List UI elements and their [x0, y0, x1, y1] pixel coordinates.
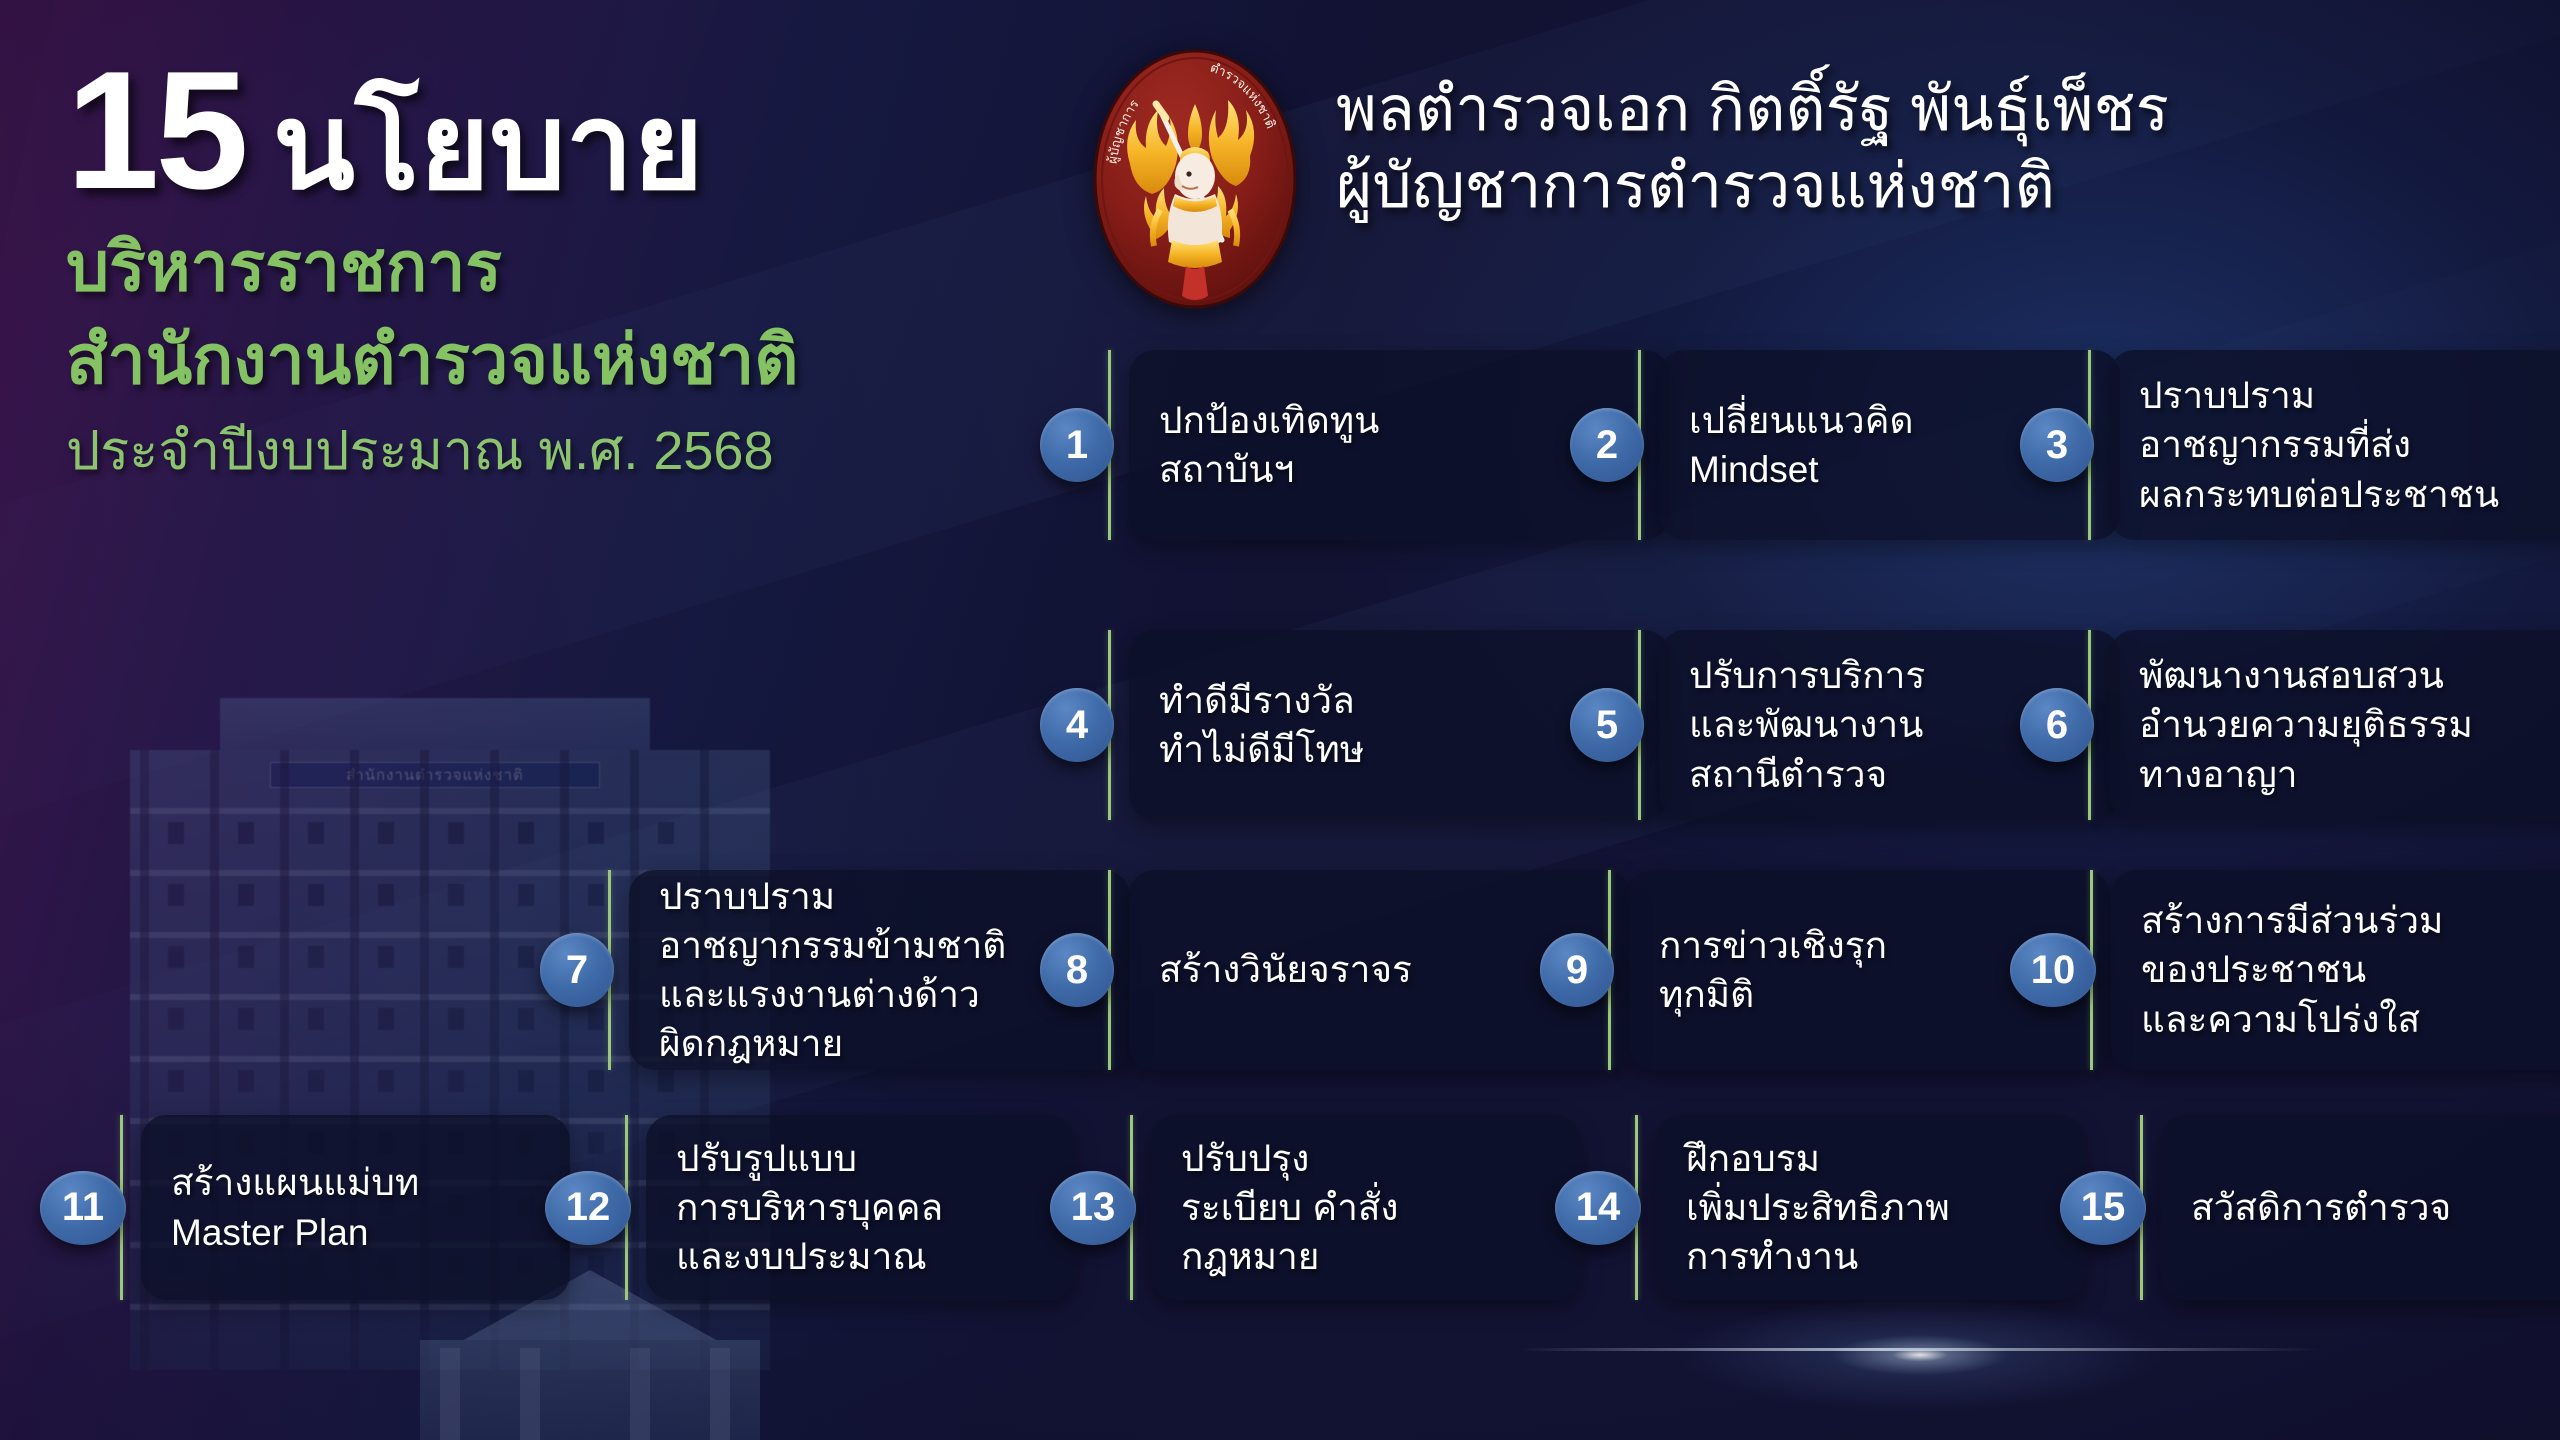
policy-label-line: ฝึกอบรม	[1686, 1134, 1950, 1183]
policy-number-badge[interactable]: 1	[1040, 408, 1114, 482]
policy-label: ปราบปรามอาชญากรรมที่ส่งผลกระทบต่อประชาชน	[2139, 371, 2499, 519]
policy-label: ปรับปรุงระเบียบ คำสั่งกฎหมาย	[1181, 1134, 1399, 1282]
policy-label-line: ปรับการบริการ	[1689, 651, 1925, 700]
policy-card[interactable]: สร้างแผนแม่บทMaster Plan	[141, 1115, 570, 1300]
policy-item[interactable]: 3ปราบปรามอาชญากรรมที่ส่งผลกระทบต่อประชาช…	[2020, 350, 2560, 540]
policy-number-badge[interactable]: 8	[1040, 933, 1114, 1007]
policy-card[interactable]: ฝึกอบรมเพิ่มประสิทธิภาพการทำงาน	[1656, 1115, 2085, 1300]
policy-label: ปรับการบริการและพัฒนางานสถานีตำรวจ	[1689, 651, 1925, 799]
policy-label: ปรับรูปแบบการบริหารบุคคลและงบประมาณ	[676, 1134, 943, 1282]
policy-card[interactable]: ปราบปรามอาชญากรรมที่ส่งผลกระทบต่อประชาชน	[2109, 350, 2560, 540]
policy-label-line: ปราบปราม	[2139, 371, 2499, 420]
policy-number-badge[interactable]: 11	[40, 1171, 126, 1245]
policy-label-line: การข่าวเชิงรุก	[1659, 921, 1887, 970]
policy-label: เปลี่ยนแนวคิดMindset	[1689, 396, 1913, 494]
policy-item[interactable]: 14ฝึกอบรมเพิ่มประสิทธิภาพการทำงาน	[1555, 1115, 2085, 1300]
policy-label-line: สถาบันฯ	[1159, 445, 1379, 494]
policy-number-badge[interactable]: 15	[2060, 1171, 2146, 1245]
policy-number-badge[interactable]: 5	[1570, 688, 1644, 762]
policy-label-line: สวัสดิการตำรวจ	[2191, 1183, 2451, 1232]
policy-label: ทำดีมีรางวัลทำไม่ดีมีโทษ	[1159, 676, 1364, 774]
policy-label-line: พัฒนางานสอบสวน	[2139, 651, 2473, 700]
policy-number-badge[interactable]: 4	[1040, 688, 1114, 762]
policy-label-line: ผลกระทบต่อประชาชน	[2139, 470, 2499, 519]
policy-label: ปราบปรามอาชญากรรมข้ามชาติและแรงงานต่างด้…	[659, 872, 1006, 1069]
policy-number-badge[interactable]: 12	[545, 1171, 631, 1245]
policy-number-badge[interactable]: 2	[1570, 408, 1644, 482]
policy-number-badge[interactable]: 13	[1050, 1171, 1136, 1245]
policy-number-badge[interactable]: 7	[540, 933, 614, 1007]
policy-card[interactable]: ปรับปรุงระเบียบ คำสั่งกฎหมาย	[1151, 1115, 1580, 1300]
policy-label-line: Master Plan	[171, 1208, 419, 1257]
policy-label: สวัสดิการตำรวจ	[2191, 1183, 2451, 1232]
policy-label: สร้างแผนแม่บทMaster Plan	[171, 1158, 419, 1256]
policy-label-line: การทำงาน	[1686, 1232, 1950, 1281]
policy-label: ฝึกอบรมเพิ่มประสิทธิภาพการทำงาน	[1686, 1134, 1950, 1282]
policy-item[interactable]: 11สร้างแผนแม่บทMaster Plan	[40, 1115, 570, 1300]
policy-label-line: ปราบปราม	[659, 872, 1006, 921]
policy-label-line: เพิ่มประสิทธิภาพ	[1686, 1183, 1950, 1232]
policy-label-line: สถานีตำรวจ	[1689, 750, 1925, 799]
policy-label-line: ทำไม่ดีมีโทษ	[1159, 725, 1364, 774]
policy-label-line: Mindset	[1689, 445, 1913, 494]
policy-label: การข่าวเชิงรุกทุกมิติ	[1659, 921, 1887, 1019]
policy-label: ปกป้องเทิดทูนสถาบันฯ	[1159, 396, 1379, 494]
policy-label-line: สร้างแผนแม่บท	[171, 1158, 419, 1207]
policy-label: พัฒนางานสอบสวนอำนวยความยุติธรรมทางอาญา	[2139, 651, 2473, 799]
policy-label: สร้างการมีส่วนร่วมของประชาชนและความโปร่ง…	[2141, 896, 2443, 1044]
policy-number-badge[interactable]: 9	[1540, 933, 1614, 1007]
policy-label-line: ปกป้องเทิดทูน	[1159, 396, 1379, 445]
policy-item[interactable]: 15สวัสดิการตำรวจ	[2060, 1115, 2560, 1300]
policy-label-line: ของประชาชน	[2141, 945, 2443, 994]
policy-label-line: ทุกมิติ	[1659, 970, 1887, 1019]
policy-card[interactable]: สร้างการมีส่วนร่วมของประชาชนและความโปร่ง…	[2111, 870, 2560, 1070]
policy-item[interactable]: 12ปรับรูปแบบการบริหารบุคคลและงบประมาณ	[545, 1115, 1075, 1300]
policy-card[interactable]: ปรับรูปแบบการบริหารบุคคลและงบประมาณ	[646, 1115, 1075, 1300]
policy-label-line: ปรับรูปแบบ	[676, 1134, 943, 1183]
policy-number-badge[interactable]: 6	[2020, 688, 2094, 762]
policy-label-line: กฎหมาย	[1181, 1232, 1399, 1281]
policy-label-line: ทางอาญา	[2139, 750, 2473, 799]
policy-label-line: อาชญากรรมที่ส่ง	[2139, 420, 2499, 469]
policy-label-line: สร้างการมีส่วนร่วม	[2141, 896, 2443, 945]
policy-label-line: เปลี่ยนแนวคิด	[1689, 396, 1913, 445]
policy-label-line: และแรงงานต่างด้าว	[659, 970, 1006, 1019]
policy-number-badge[interactable]: 14	[1555, 1171, 1641, 1245]
policy-label-line: ผิดกฎหมาย	[659, 1019, 1006, 1068]
policy-label-line: สร้างวินัยจราจร	[1159, 945, 1412, 994]
policy-label-line: อาชญากรรมข้ามชาติ	[659, 921, 1006, 970]
policy-item[interactable]: 10สร้างการมีส่วนร่วมของประชาชนและความโปร…	[2010, 870, 2560, 1070]
policy-label-line: และงบประมาณ	[676, 1232, 943, 1281]
policy-label-line: และพัฒนางาน	[1689, 700, 1925, 749]
policy-label-line: และความโปร่งใส	[2141, 995, 2443, 1044]
policy-item[interactable]: 13ปรับปรุงระเบียบ คำสั่งกฎหมาย	[1050, 1115, 1580, 1300]
policy-label-line: ทำดีมีรางวัล	[1159, 676, 1364, 725]
policy-number-badge[interactable]: 3	[2020, 408, 2094, 482]
policy-number-badge[interactable]: 10	[2010, 933, 2096, 1007]
policy-item[interactable]: 6พัฒนางานสอบสวนอำนวยความยุติธรรมทางอาญา	[2020, 630, 2560, 820]
policy-card[interactable]: พัฒนางานสอบสวนอำนวยความยุติธรรมทางอาญา	[2109, 630, 2560, 820]
policy-grid: 1ปกป้องเทิดทูนสถาบันฯ2เปลี่ยนแนวคิดMinds…	[0, 0, 2560, 1440]
policy-label-line: การบริหารบุคคล	[676, 1183, 943, 1232]
policy-label-line: อำนวยความยุติธรรม	[2139, 700, 2473, 749]
policy-label: สร้างวินัยจราจร	[1159, 945, 1412, 994]
policy-label-line: ระเบียบ คำสั่ง	[1181, 1183, 1399, 1232]
policy-label-line: ปรับปรุง	[1181, 1134, 1399, 1183]
policy-card[interactable]: สวัสดิการตำรวจ	[2161, 1115, 2560, 1300]
